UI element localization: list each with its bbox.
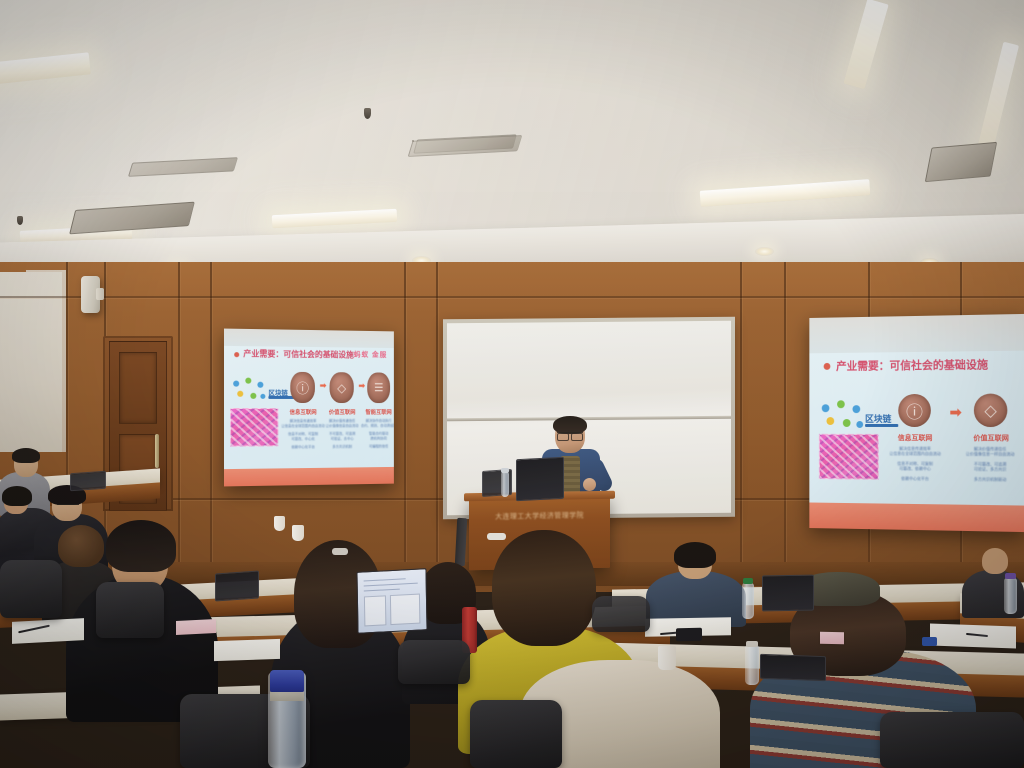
notebook-paper-far-right bbox=[930, 623, 1016, 648]
hair bbox=[12, 448, 40, 463]
notebook-paper-center bbox=[214, 639, 280, 661]
bottle-cap bbox=[743, 578, 753, 584]
paper-cup-podium-2 bbox=[292, 525, 304, 541]
net-node bbox=[837, 400, 845, 408]
net-node bbox=[852, 405, 860, 413]
wall-seam-8 bbox=[784, 262, 786, 592]
paper-cup-podium bbox=[274, 516, 285, 531]
right-node-label-1: 信息互联网 bbox=[887, 433, 944, 443]
door-handle[interactable] bbox=[155, 434, 159, 468]
hair bbox=[106, 520, 176, 572]
right-node-icon-information-internet: ⓘ bbox=[898, 394, 931, 427]
node-icon-value-internet: ◇ bbox=[330, 372, 354, 403]
left-slide-top-band bbox=[224, 329, 394, 349]
right-slide-top-band bbox=[809, 314, 1024, 354]
podium-water-bottle bbox=[501, 472, 509, 497]
doc-line bbox=[364, 583, 418, 587]
foreground-bottle-cap bbox=[270, 670, 304, 692]
wall-rail-upper bbox=[0, 296, 1024, 298]
head bbox=[982, 548, 1008, 574]
glasses bbox=[57, 504, 79, 509]
chair-back-midleft bbox=[398, 640, 470, 684]
net-node bbox=[856, 421, 863, 428]
wall-seam-3 bbox=[178, 262, 180, 592]
left-slide-accent-bar bbox=[224, 467, 394, 487]
node-icon-smart-internet: ☰ bbox=[367, 372, 390, 403]
doc-block bbox=[390, 594, 421, 626]
hair bbox=[492, 530, 596, 646]
smartphone-center[interactable] bbox=[676, 628, 702, 641]
blockchain-underline bbox=[268, 396, 294, 399]
right-screen-surface: 产业需要：可信社会的基础设施 区块链 ⓘ 信息互联网 解决信息传递效率 让信息在… bbox=[809, 314, 1024, 532]
suspended-tile-ceiling bbox=[0, 0, 1024, 300]
right-node-label-2: 价值互联网 bbox=[962, 433, 1021, 443]
network-graph-icon bbox=[232, 378, 266, 404]
student-laptop-closed-right[interactable] bbox=[762, 575, 814, 612]
right-node-icon-value-internet: ◇ bbox=[974, 394, 1007, 428]
right-arrow-icon: ➡ bbox=[950, 404, 962, 421]
water-bottle-center bbox=[742, 583, 754, 619]
net-node bbox=[250, 393, 256, 399]
net-node bbox=[827, 417, 835, 425]
chair-back-far-right bbox=[592, 596, 650, 632]
bottle-collar bbox=[270, 692, 304, 701]
wall-seam-7 bbox=[740, 262, 742, 592]
sprinkler-head bbox=[364, 108, 371, 119]
downlight-4 bbox=[755, 247, 774, 256]
right-flat-panel-display[interactable]: 产业需要：可信社会的基础设施 区块链 ⓘ 信息互联网 解决信息传递效率 让信息在… bbox=[809, 314, 1024, 532]
lecture-hall-photo: 产业需要：可信社会的基础设施 蚂蚁 金服 区块链 ⓘ 信息互联网 bbox=[0, 0, 1024, 768]
hair bbox=[58, 525, 104, 567]
left-slide-title: 产业需要：可信社会的基础设施 bbox=[243, 348, 353, 360]
sprinkler-head-2 bbox=[17, 216, 23, 225]
right-qr-art-thumbnail bbox=[819, 434, 879, 480]
hair bbox=[2, 486, 32, 506]
hair bbox=[674, 542, 716, 568]
chair-back-center-left bbox=[96, 582, 164, 638]
node-body-3: 解决协作自动执行 合约、规则、自动清结算 智能合约驱动 跨机构协同 可编程的信任 bbox=[357, 419, 394, 450]
student-laptop-open-lit[interactable] bbox=[356, 568, 427, 634]
hair-clip bbox=[332, 548, 348, 555]
presenter-right-hand bbox=[583, 478, 596, 491]
lectern-inscription: 大连理工大学经济管理学院 bbox=[469, 510, 610, 522]
wall-seam-4 bbox=[210, 262, 212, 592]
node-label-3: 智能互联网 bbox=[357, 408, 394, 416]
net-node bbox=[245, 378, 251, 384]
right-slide-accent-bar bbox=[809, 503, 1024, 532]
net-node bbox=[233, 381, 239, 387]
student-laptop-open-dark[interactable] bbox=[760, 654, 826, 681]
paper-cup-center bbox=[658, 646, 676, 670]
bottle-cap bbox=[1005, 573, 1016, 579]
net-node bbox=[843, 419, 851, 427]
podium-bottle-cap bbox=[501, 468, 509, 473]
chair-back-left bbox=[0, 560, 62, 618]
left-projection-screen[interactable]: 产业需要：可信社会的基础设施 蚂蚁 金服 区块链 ⓘ 信息互联网 bbox=[224, 329, 394, 487]
speaker-bracket bbox=[96, 288, 104, 300]
left-slide-bullet-icon bbox=[234, 352, 239, 357]
net-node bbox=[260, 394, 265, 399]
net-node bbox=[237, 391, 243, 397]
wall-seam-6 bbox=[436, 262, 438, 592]
blue-eraser bbox=[922, 637, 937, 646]
bottle-cap bbox=[746, 641, 758, 647]
right-slide-title: 产业需要：可信社会的基础设施 bbox=[836, 356, 988, 374]
water-bottle-far-right bbox=[1004, 578, 1017, 614]
right-node-body-2: 解决价值传递信任 让价值像信息一样自由流动 不可篡改、可追溯 可验证、多方共识 … bbox=[960, 446, 1021, 482]
handout-pink-2 bbox=[820, 632, 844, 644]
arrow-icon-2: ➡ bbox=[359, 381, 365, 390]
left-slide-logo: 蚂蚁 金服 bbox=[354, 350, 387, 360]
handout-pink bbox=[176, 619, 216, 635]
right-node-body-1: 解决信息传递效率 让信息在全球范围内自由流动 信息不对称、可复制 可篡改、依赖中… bbox=[885, 446, 946, 481]
arrow-icon-1: ➡ bbox=[320, 381, 327, 390]
right-blockchain-underline bbox=[865, 424, 898, 427]
wall-speaker bbox=[81, 276, 100, 313]
right-slide: 产业需要：可信社会的基础设施 区块链 ⓘ 信息互联网 解决信息传递效率 让信息在… bbox=[809, 314, 1024, 532]
presenter-glasses bbox=[557, 432, 583, 438]
doc-line bbox=[364, 589, 400, 592]
left-screen-surface: 产业需要：可信社会的基础设施 蚂蚁 金服 区块链 ⓘ 信息互联网 bbox=[224, 329, 394, 487]
right-slide-bullet-icon bbox=[824, 363, 831, 370]
podium-laptop[interactable] bbox=[516, 457, 564, 502]
student-laptop-far-left[interactable] bbox=[70, 471, 106, 492]
net-node bbox=[257, 382, 263, 388]
doc-line bbox=[364, 578, 406, 581]
net-node bbox=[822, 404, 830, 412]
left-slide: 产业需要：可信社会的基础设施 蚂蚁 金服 区块链 ⓘ 信息互联网 bbox=[224, 329, 394, 487]
doc-block bbox=[364, 595, 387, 626]
qr-art-thumbnail bbox=[230, 408, 278, 447]
podium-clicker[interactable] bbox=[487, 533, 506, 540]
student-laptop-back-left[interactable] bbox=[215, 570, 259, 601]
chair-back-center-low bbox=[470, 700, 562, 768]
node-icon-information-internet: ⓘ bbox=[290, 372, 315, 403]
right-network-graph-icon bbox=[821, 400, 865, 434]
chair-back-right bbox=[880, 712, 1024, 768]
ceiling-air-vent-far bbox=[925, 142, 997, 182]
wall-seam-5 bbox=[404, 262, 406, 592]
water-bottle-right bbox=[745, 645, 759, 685]
door-upper-panel bbox=[119, 352, 157, 424]
foreground-water-bottle bbox=[268, 672, 306, 768]
